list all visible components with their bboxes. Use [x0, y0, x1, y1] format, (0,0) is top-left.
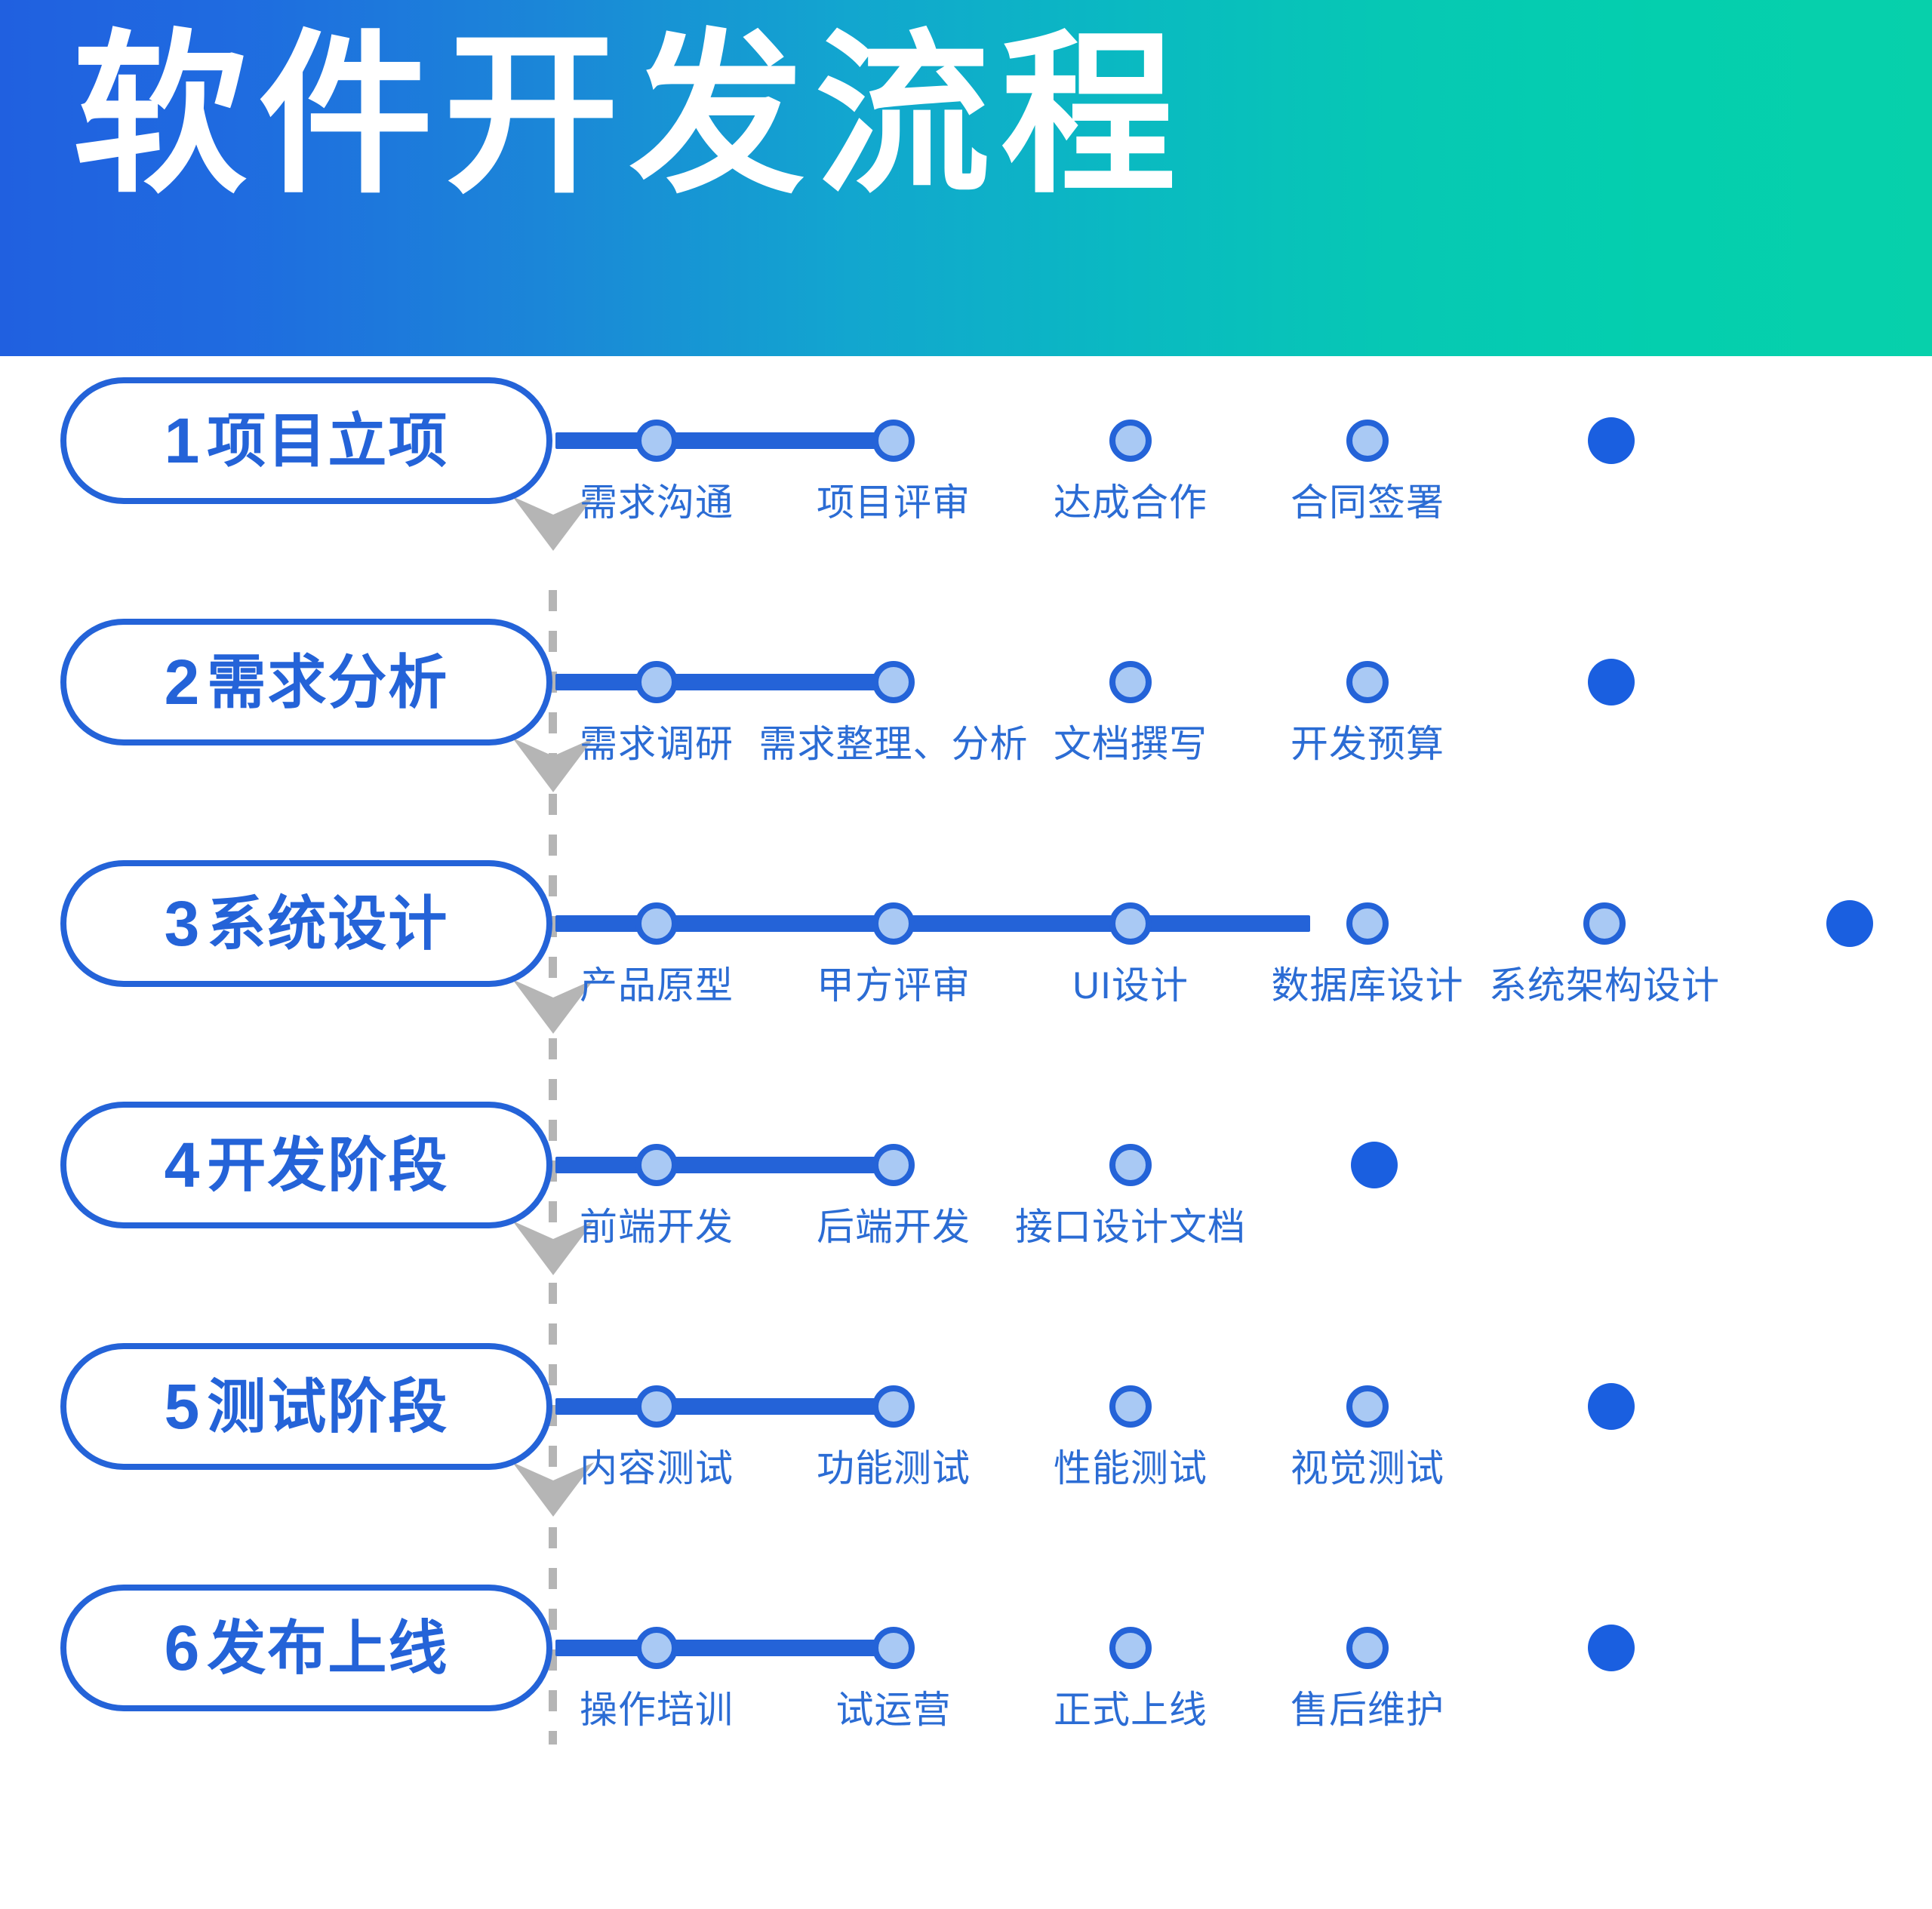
- timeline-node[interactable]: [635, 1144, 678, 1186]
- step-label: 甲方评审: [817, 955, 971, 1010]
- header-banner: 软件开发流程: [0, 0, 1932, 356]
- step-label: 操作培训: [580, 1680, 734, 1734]
- timeline-node[interactable]: [1346, 661, 1389, 703]
- timeline-end-node: [1588, 1625, 1635, 1671]
- timeline-node[interactable]: [1346, 420, 1389, 462]
- step-label: 系统架构设计: [1489, 955, 1720, 1010]
- page-title: 软件开发流程: [72, 27, 1186, 206]
- stage-number: 6: [165, 1616, 200, 1680]
- timeline-node[interactable]: [872, 902, 915, 945]
- timeline-node[interactable]: [1109, 420, 1152, 462]
- timeline-end-node: [1588, 1383, 1635, 1430]
- stage-title: 测试阶段: [207, 1377, 448, 1436]
- timeline-node[interactable]: [872, 1627, 915, 1669]
- step-label: 合同签署: [1291, 472, 1444, 527]
- step-label: 内容测试: [580, 1438, 734, 1492]
- timeline-track: [555, 432, 875, 449]
- timeline-node[interactable]: [1346, 902, 1389, 945]
- stage-row: 5 测试阶段 内容测试 功能测试 性能测试 视觉测试: [0, 1322, 1932, 1571]
- timeline-node[interactable]: [1109, 902, 1152, 945]
- timeline-track: [555, 1640, 875, 1656]
- timeline-track: [555, 1157, 875, 1173]
- timeline-node[interactable]: [1109, 661, 1152, 703]
- stage-row: 4 开发阶段 前端开发 后端开发 接口设计文档: [0, 1081, 1932, 1330]
- stage-pill-4[interactable]: 4 开发阶段: [60, 1102, 552, 1228]
- timeline-node[interactable]: [635, 661, 678, 703]
- stage-number: 4: [165, 1133, 200, 1197]
- flow-diagram: 1 项目立项 需求沟通 项目评审 达成合作 合同签署 2 需求分析: [0, 356, 1932, 1909]
- timeline-node[interactable]: [1583, 902, 1626, 945]
- timeline-node[interactable]: [872, 661, 915, 703]
- stage-row: 1 项目立项 需求沟通 项目评审 达成合作 合同签署: [0, 356, 1932, 605]
- timeline-end-node: [1588, 659, 1635, 705]
- timeline-node[interactable]: [635, 1385, 678, 1428]
- step-label: 后端开发: [817, 1197, 971, 1251]
- timeline-track: [555, 674, 875, 690]
- timeline-node[interactable]: [872, 1144, 915, 1186]
- step-label: 前端开发: [580, 1197, 734, 1251]
- stage-number: 5: [165, 1375, 200, 1438]
- step-label: 开发预算: [1291, 714, 1444, 768]
- stage-number: 1: [165, 409, 200, 472]
- step-label: 需求调研: [580, 714, 734, 768]
- step-label: 正式上线: [1054, 1680, 1207, 1734]
- timeline-node[interactable]: [872, 1385, 915, 1428]
- stage-row: 6 发布上线 操作培训 试运营 正式上线 售后维护: [0, 1563, 1932, 1812]
- step-label: UI设计: [1072, 955, 1189, 1010]
- stage-pill-3[interactable]: 3 系统设计: [60, 860, 552, 987]
- stage-pill-2[interactable]: 2 需求分析: [60, 619, 552, 745]
- step-label: 需求整理、分析: [759, 714, 1029, 768]
- stage-title: 发布上线: [207, 1618, 448, 1677]
- timeline-node[interactable]: [1109, 1627, 1152, 1669]
- timeline-end-node: [1588, 417, 1635, 464]
- step-label: 需求沟通: [580, 472, 734, 527]
- timeline-end-node: [1826, 900, 1873, 947]
- timeline-track: [555, 1398, 875, 1415]
- step-label: 视觉测试: [1291, 1438, 1444, 1492]
- step-label: 售后维护: [1291, 1680, 1444, 1734]
- stage-title: 项目立项: [207, 411, 448, 470]
- step-label: 产品原型: [580, 955, 734, 1010]
- timeline-node[interactable]: [872, 420, 915, 462]
- step-label: 性能测试: [1054, 1438, 1207, 1492]
- stage-title: 需求分析: [207, 653, 448, 712]
- stage-number: 3: [165, 892, 200, 955]
- timeline-end-node: [1351, 1142, 1398, 1188]
- step-label: 试运营: [836, 1680, 952, 1734]
- timeline-node[interactable]: [1109, 1385, 1152, 1428]
- step-label: 达成合作: [1054, 472, 1207, 527]
- timeline-node[interactable]: [635, 420, 678, 462]
- stage-title: 开发阶段: [207, 1136, 448, 1194]
- step-label: 接口设计文档: [1015, 1197, 1246, 1251]
- stage-row: 2 需求分析 需求调研 需求整理、分析 文档撰写 开发预算: [0, 598, 1932, 847]
- timeline-node[interactable]: [635, 1627, 678, 1669]
- stage-number: 2: [165, 650, 200, 714]
- stage-pill-1[interactable]: 1 项目立项: [60, 377, 552, 504]
- timeline-node[interactable]: [1346, 1385, 1389, 1428]
- stage-pill-6[interactable]: 6 发布上线: [60, 1585, 552, 1711]
- timeline-node[interactable]: [635, 902, 678, 945]
- stage-row: 3 系统设计 产品原型 甲方评审 UI设计 数据库设计 系统架构设计: [0, 839, 1932, 1088]
- timeline-node[interactable]: [1346, 1627, 1389, 1669]
- step-label: 文档撰写: [1054, 714, 1207, 768]
- stage-pill-5[interactable]: 5 测试阶段: [60, 1343, 552, 1470]
- timeline-node[interactable]: [1109, 1144, 1152, 1186]
- step-label: 项目评审: [817, 472, 971, 527]
- step-label: 功能测试: [817, 1438, 971, 1492]
- step-label: 数据库设计: [1272, 955, 1464, 1010]
- stage-title: 系统设计: [207, 894, 448, 953]
